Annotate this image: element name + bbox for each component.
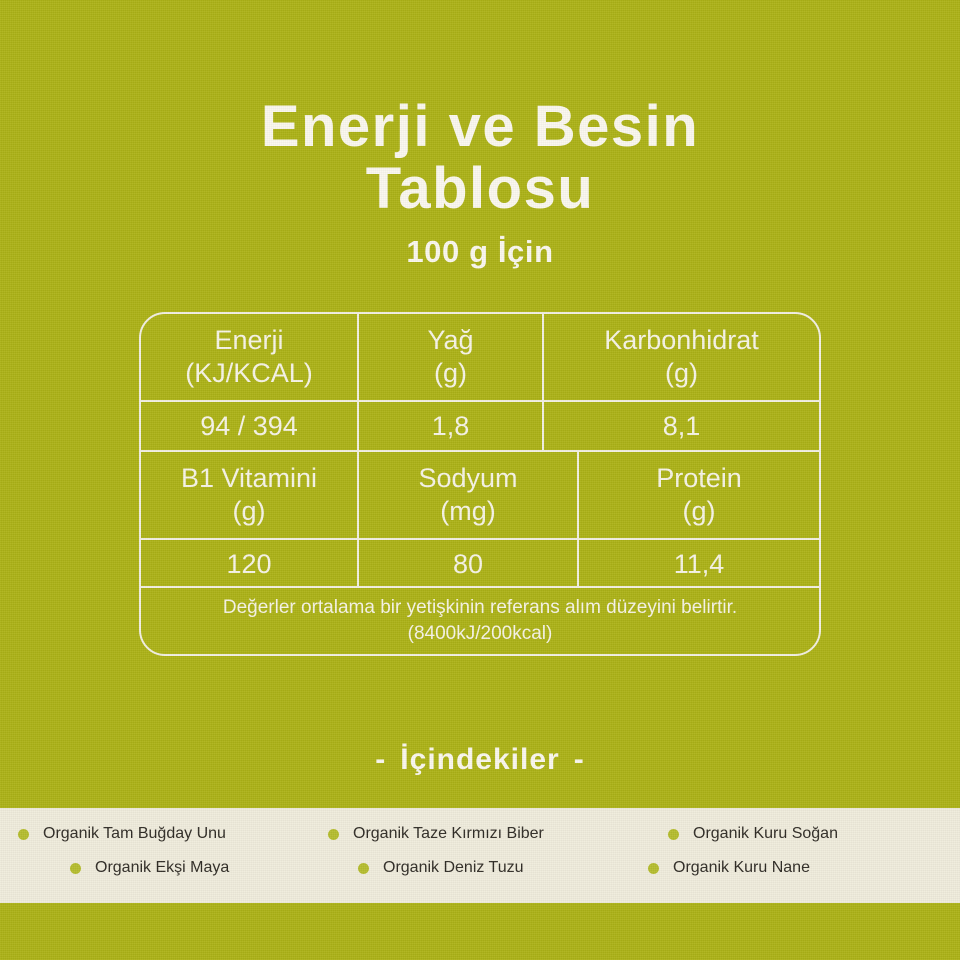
value-text: 8,1 (663, 411, 701, 441)
nutrition-section-2: B1 Vitamini (g) Sodyum (mg) Protein (g) … (141, 450, 819, 586)
ingredients-column-2: Organik Taze Kırmızı Biber Organik Deniz… (320, 808, 640, 903)
table-value-cell-sodium: 80 (357, 540, 577, 588)
nutrition-table: Enerji (KJ/KCAL) Yağ (g) Karbonhidrat (g… (139, 312, 821, 656)
page-title-line2: Tablosu (0, 158, 960, 220)
header-label: B1 Vitamini (181, 462, 317, 495)
bullet-icon (70, 863, 81, 874)
ingredients-heading: -İçindekiler- (0, 742, 960, 778)
value-text: 1,8 (432, 411, 470, 441)
serving-size-subtitle: 100 g İçin (0, 234, 960, 270)
bullet-icon (668, 829, 679, 840)
ingredient-label: Organik Kuru Soğan (693, 824, 838, 844)
ingredient-label: Organik Ekşi Maya (95, 858, 229, 878)
header-unit: (g) (233, 495, 266, 528)
value-text: 120 (226, 549, 271, 579)
header-unit: (g) (683, 495, 716, 528)
ingredient-label: Organik Taze Kırmızı Biber (353, 824, 544, 844)
ingredients-heading-label: İçindekiler (400, 743, 559, 776)
ingredient-label: Organik Deniz Tuzu (383, 858, 524, 878)
footnote-line-1: Değerler ortalama bir yetişkinin referan… (223, 595, 737, 621)
value-text: 80 (453, 549, 483, 579)
page-header: Enerji ve Besin Tablosu 100 g İçin (0, 96, 960, 270)
nutrition-section-1: Enerji (KJ/KCAL) Yağ (g) Karbonhidrat (g… (141, 314, 819, 450)
bullet-icon (18, 829, 29, 840)
value-text: 94 / 394 (200, 411, 298, 441)
table-header-row: Enerji (KJ/KCAL) Yağ (g) Karbonhidrat (g… (141, 314, 819, 400)
table-footnote: Değerler ortalama bir yetişkinin referan… (141, 586, 819, 654)
list-item: Organik Kuru Nane (648, 858, 810, 878)
header-unit: (KJ/KCAL) (185, 357, 313, 390)
table-value-cell-carbohydrate: 8,1 (542, 402, 819, 450)
table-value-cell-fat: 1,8 (357, 402, 542, 450)
table-value-cell-vitamin-b1: 120 (141, 540, 357, 588)
header-label: Sodyum (418, 462, 517, 495)
ingredient-label: Organik Kuru Nane (673, 858, 810, 878)
ingredient-label: Organik Tam Buğday Unu (43, 824, 226, 844)
table-value-cell-protein: 11,4 (577, 540, 819, 588)
value-text: 11,4 (674, 549, 725, 579)
table-header-cell-carbohydrate: Karbonhidrat (g) (542, 314, 819, 400)
table-header-cell-energy: Enerji (KJ/KCAL) (141, 314, 357, 400)
bullet-icon (648, 863, 659, 874)
list-item: Organik Taze Kırmızı Biber (328, 824, 544, 844)
list-item: Organik Deniz Tuzu (358, 858, 524, 878)
table-value-cell-energy: 94 / 394 (141, 402, 357, 450)
ingredients-column-3: Organik Kuru Soğan Organik Kuru Nane (640, 808, 960, 903)
list-item: Organik Tam Buğday Unu (18, 824, 226, 844)
table-header-cell-vitamin-b1: B1 Vitamini (g) (141, 452, 357, 538)
header-unit: (g) (434, 357, 467, 390)
table-header-cell-sodium: Sodyum (mg) (357, 452, 577, 538)
footnote-line-2: (8400kJ/200kcal) (408, 621, 553, 647)
header-label: Yağ (427, 324, 473, 357)
list-item: Organik Kuru Soğan (668, 824, 838, 844)
dash-left: - (375, 742, 386, 778)
table-value-row: 120 80 11,4 (141, 538, 819, 588)
list-item: Organik Ekşi Maya (70, 858, 229, 878)
header-label: Protein (656, 462, 742, 495)
page-title-line1: Enerji ve Besin (0, 96, 960, 158)
bullet-icon (328, 829, 339, 840)
ingredients-column-1: Organik Tam Buğday Unu Organik Ekşi Maya (0, 808, 320, 903)
header-label: Enerji (214, 324, 283, 357)
header-unit: (g) (665, 357, 698, 390)
table-header-row: B1 Vitamini (g) Sodyum (mg) Protein (g) (141, 452, 819, 538)
table-header-cell-fat: Yağ (g) (357, 314, 542, 400)
header-unit: (mg) (440, 495, 496, 528)
table-value-row: 94 / 394 1,8 8,1 (141, 400, 819, 450)
table-header-cell-protein: Protein (g) (577, 452, 819, 538)
header-label: Karbonhidrat (604, 324, 759, 357)
dash-right: - (574, 742, 585, 778)
bullet-icon (358, 863, 369, 874)
ingredients-band: Organik Tam Buğday Unu Organik Ekşi Maya… (0, 808, 960, 903)
